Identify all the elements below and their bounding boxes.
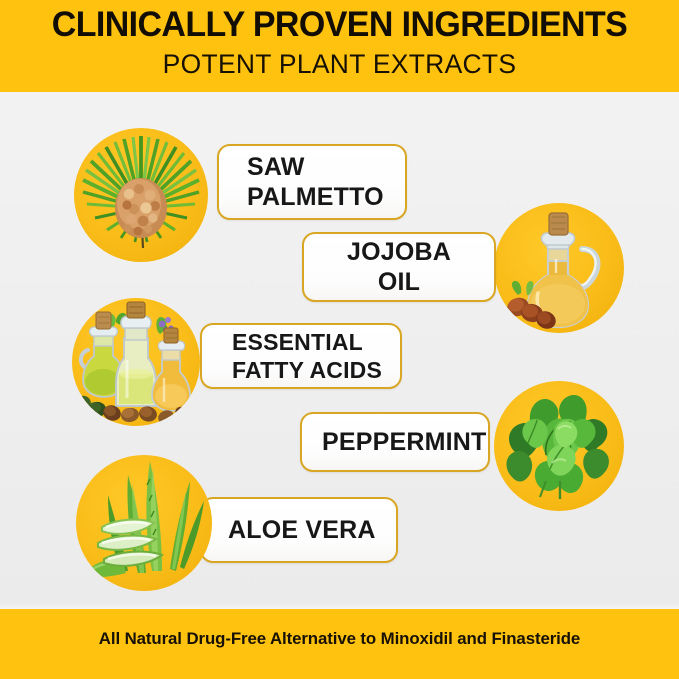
saw-palmetto-icon	[74, 128, 208, 262]
header-banner: CLINICALLY PROVEN INGREDIENTS POTENT PLA…	[0, 0, 679, 92]
peppermint-badge	[494, 381, 624, 511]
essential-fatty-acids-badge	[72, 298, 200, 426]
page-subtitle: POTENT PLANT EXTRACTS	[7, 46, 672, 82]
ingredient-label-peppermint: PEPPERMINT	[302, 427, 488, 457]
page-title: CLINICALLY PROVEN INGREDIENTS	[10, 3, 669, 47]
ingredient-label-box-peppermint: PEPPERMINT	[300, 412, 490, 472]
aloe-vera-badge	[76, 455, 212, 591]
ingredients-infographic: CLINICALLY PROVEN INGREDIENTS POTENT PLA…	[0, 0, 679, 679]
ingredient-label-box-aloe-vera: ALOE VERA	[200, 497, 398, 563]
jojoba-oil-badge	[494, 203, 624, 333]
ingredient-label-jojoba-oil: JOJOBA OIL	[304, 237, 494, 297]
aloe-vera-icon	[76, 455, 212, 591]
ingredient-label-essential-fatty-acids: ESSENTIAL FATTY ACIDS	[202, 328, 400, 384]
footer-banner: All Natural Drug-Free Alternative to Min…	[0, 609, 679, 679]
peppermint-icon	[494, 381, 624, 511]
footer-tagline: All Natural Drug-Free Alternative to Min…	[3, 627, 675, 651]
ingredient-label-aloe-vera: ALOE VERA	[202, 515, 396, 545]
ingredient-label-saw-palmetto: SAW PALMETTO	[219, 152, 405, 212]
ingredient-label-box-essential-fatty-acids: ESSENTIAL FATTY ACIDS	[200, 323, 402, 389]
jojoba-oil-icon	[494, 203, 624, 333]
ingredient-label-box-saw-palmetto: SAW PALMETTO	[217, 144, 407, 220]
ingredient-label-box-jojoba-oil: JOJOBA OIL	[302, 232, 496, 302]
oil-bottles-icon	[72, 298, 200, 426]
saw-palmetto-badge	[74, 128, 208, 262]
